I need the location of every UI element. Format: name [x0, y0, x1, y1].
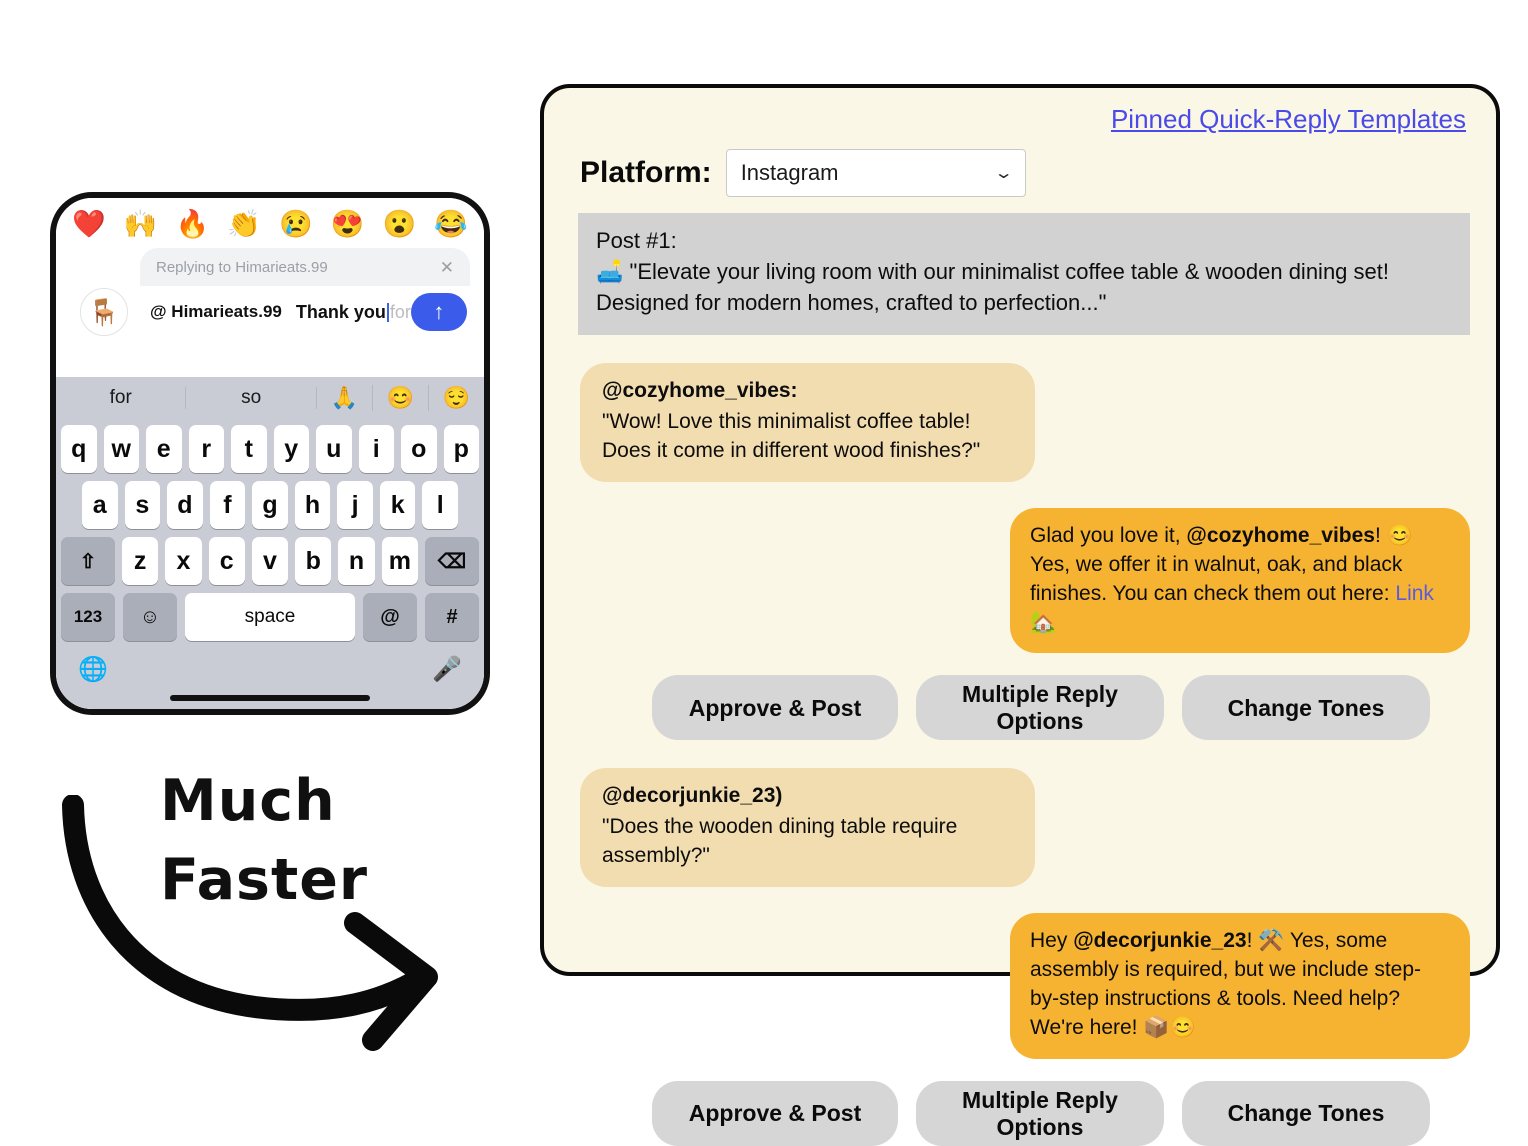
pinned-templates-row: Pinned Quick-Reply Templates [578, 104, 1470, 135]
reply-mention: @cozyhome_vibes [1186, 524, 1375, 547]
reply-input[interactable]: @ Himarieats.99 Thank youfor ↑ [136, 286, 473, 338]
platform-label: Platform: [580, 156, 712, 190]
key-y[interactable]: y [274, 425, 310, 473]
pinned-quick-reply-templates-link[interactable]: Pinned Quick-Reply Templates [1111, 104, 1466, 134]
numbers-key[interactable]: 123 [61, 593, 115, 641]
key-x[interactable]: x [165, 537, 201, 585]
couch-emoji-icon: 🛋️ [596, 259, 623, 284]
laughing-emoji-icon[interactable]: 😂 [434, 211, 468, 238]
key-s[interactable]: s [125, 481, 161, 529]
keyboard-row-4: 123 ☺ space @ # [56, 593, 484, 641]
key-f[interactable]: f [210, 481, 246, 529]
comment-text: "Does the wooden dining table require as… [602, 815, 957, 867]
key-v[interactable]: v [252, 537, 288, 585]
approve-and-post-button[interactable]: Approve & Post [652, 1081, 898, 1146]
key-k[interactable]: k [380, 481, 416, 529]
post-label: Post #1: [596, 225, 1452, 256]
comment-handle: @decorjunkie_23) [602, 782, 1015, 811]
platform-select[interactable]: Instagram ⌄ [726, 149, 1026, 197]
curved-arrow-icon [55, 795, 455, 1055]
key-z[interactable]: z [122, 537, 158, 585]
platform-selected-value: Instagram [741, 160, 839, 186]
smile-emoji-icon[interactable]: 😊 [373, 385, 429, 411]
raised-hands-emoji-icon[interactable]: 🙌 [124, 211, 158, 238]
key-c[interactable]: c [209, 537, 245, 585]
key-r[interactable]: r [189, 425, 225, 473]
reply-bubble: Hey @decorjunkie_23! ⚒️ Yes, some assemb… [1010, 913, 1470, 1059]
suggestion-for[interactable]: for [56, 387, 186, 409]
key-q[interactable]: q [61, 425, 97, 473]
reply-composer-card: Replying to Himarieats.99 ✕ 🪑 @ Himariea… [56, 246, 484, 338]
hash-key[interactable]: # [425, 593, 479, 641]
comment-bubble: @decorjunkie_23) "Does the wooden dining… [580, 768, 1035, 887]
keyboard-bottom-row: 🌐 🎤 [56, 649, 484, 695]
reply-actions: Approve & Post Multiple Reply Options Ch… [578, 1081, 1470, 1146]
reply-inline-link[interactable]: Link [1395, 582, 1434, 605]
key-a[interactable]: a [82, 481, 118, 529]
keyboard-row-2: a s d f g h j k l [56, 481, 484, 529]
change-tones-button[interactable]: Change Tones [1182, 1081, 1430, 1146]
key-l[interactable]: l [422, 481, 458, 529]
avatar: 🪑 [80, 288, 128, 336]
reply-prefix: Glad you love it, [1030, 524, 1186, 547]
post-line-2: Designed for modern homes, crafted to pe… [596, 290, 1106, 315]
post-body: 🛋️ "Elevate your living room with our mi… [596, 256, 1452, 318]
surprised-emoji-icon[interactable]: 😮 [383, 211, 417, 238]
key-u[interactable]: u [316, 425, 352, 473]
comment-text: "Wow! Love this minimalist coffee table!… [602, 410, 980, 462]
replying-to-banner: Replying to Himarieats.99 ✕ [140, 248, 470, 286]
composer-row: 🪑 @ Himarieats.99 Thank youfor ↑ [64, 286, 476, 338]
suggestion-so[interactable]: so [186, 387, 316, 409]
text-caret [387, 303, 389, 322]
key-w[interactable]: w [104, 425, 140, 473]
reply-bubble: Glad you love it, @cozyhome_vibes! 😊 Yes… [1010, 508, 1470, 654]
relieved-emoji-icon[interactable]: 😌 [429, 385, 484, 411]
quick-reply-panel: Pinned Quick-Reply Templates Platform: I… [540, 84, 1500, 976]
send-button[interactable]: ↑ [411, 293, 467, 331]
typed-text: Thank you [296, 302, 386, 323]
key-t[interactable]: t [231, 425, 267, 473]
multiple-reply-options-button[interactable]: Multiple Reply Options [916, 1081, 1164, 1146]
microphone-icon[interactable]: 🎤 [432, 655, 462, 684]
suggestion-bar: for so 🙏 😊 😌 [56, 377, 484, 419]
chevron-down-icon: ⌄ [994, 163, 1014, 183]
key-j[interactable]: j [337, 481, 373, 529]
key-d[interactable]: d [167, 481, 203, 529]
fire-emoji-icon[interactable]: 🔥 [176, 211, 210, 238]
multiple-reply-options-button[interactable]: Multiple Reply Options [916, 675, 1164, 740]
reply-mention: @decorjunkie_23 [1073, 929, 1246, 952]
space-key[interactable]: space [185, 593, 355, 641]
post-preview: Post #1: 🛋️ "Elevate your living room wi… [578, 213, 1470, 335]
heart-eyes-emoji-icon[interactable]: 😍 [331, 211, 365, 238]
clap-emoji-icon[interactable]: 👏 [227, 211, 261, 238]
house-emoji-icon: 🏡 [1030, 611, 1056, 634]
crying-emoji-icon[interactable]: 😢 [279, 211, 313, 238]
key-p[interactable]: p [444, 425, 480, 473]
on-screen-keyboard: for so 🙏 😊 😌 q w e r t y u i o p a s [56, 377, 484, 709]
heart-emoji-icon[interactable]: ❤️ [72, 211, 106, 238]
key-n[interactable]: n [338, 537, 374, 585]
key-h[interactable]: h [295, 481, 331, 529]
arrow-up-icon: ↑ [433, 299, 444, 325]
key-g[interactable]: g [252, 481, 288, 529]
platform-selector-row: Platform: Instagram ⌄ [580, 149, 1470, 197]
emoji-reaction-row[interactable]: ❤️ 🙌 🔥 👏 😢 😍 😮 😂 [56, 198, 484, 246]
replying-to-label: Replying to Himarieats.99 [156, 259, 328, 276]
change-tones-button[interactable]: Change Tones [1182, 675, 1430, 740]
key-b[interactable]: b [295, 537, 331, 585]
reply-actions: Approve & Post Multiple Reply Options Ch… [578, 675, 1470, 740]
reply-prefix: Hey [1030, 929, 1073, 952]
key-e[interactable]: e [146, 425, 182, 473]
globe-icon[interactable]: 🌐 [78, 655, 108, 684]
phone-mockup: ❤️ 🙌 🔥 👏 😢 😍 😮 😂 Replying to Himarieats.… [50, 192, 490, 715]
at-key[interactable]: @ [363, 593, 417, 641]
shift-icon[interactable]: ⇧ [61, 537, 115, 585]
comment-bubble: @cozyhome_vibes: "Wow! Love this minimal… [580, 363, 1035, 482]
backspace-icon[interactable]: ⌫ [425, 537, 479, 585]
keyboard-row-3: ⇧ z x c v b n m ⌫ [56, 537, 484, 585]
mention-chip: @ Himarieats.99 [150, 302, 282, 322]
emoji-key-icon[interactable]: ☺ [123, 593, 177, 641]
key-o[interactable]: o [401, 425, 437, 473]
key-m[interactable]: m [382, 537, 418, 585]
comment-handle: @cozyhome_vibes: [602, 377, 1015, 406]
approve-and-post-button[interactable]: Approve & Post [652, 675, 898, 740]
close-icon[interactable]: ✕ [440, 259, 454, 276]
ghost-suggestion: for [390, 302, 411, 323]
key-i[interactable]: i [359, 425, 395, 473]
phone-screen: ❤️ 🙌 🔥 👏 😢 😍 😮 😂 Replying to Himarieats.… [56, 198, 484, 709]
keyboard-row-1: q w e r t y u i o p [56, 419, 484, 473]
pray-emoji-icon[interactable]: 🙏 [317, 385, 373, 411]
home-indicator [170, 695, 370, 701]
post-line-1: "Elevate your living room with our minim… [630, 259, 1389, 284]
